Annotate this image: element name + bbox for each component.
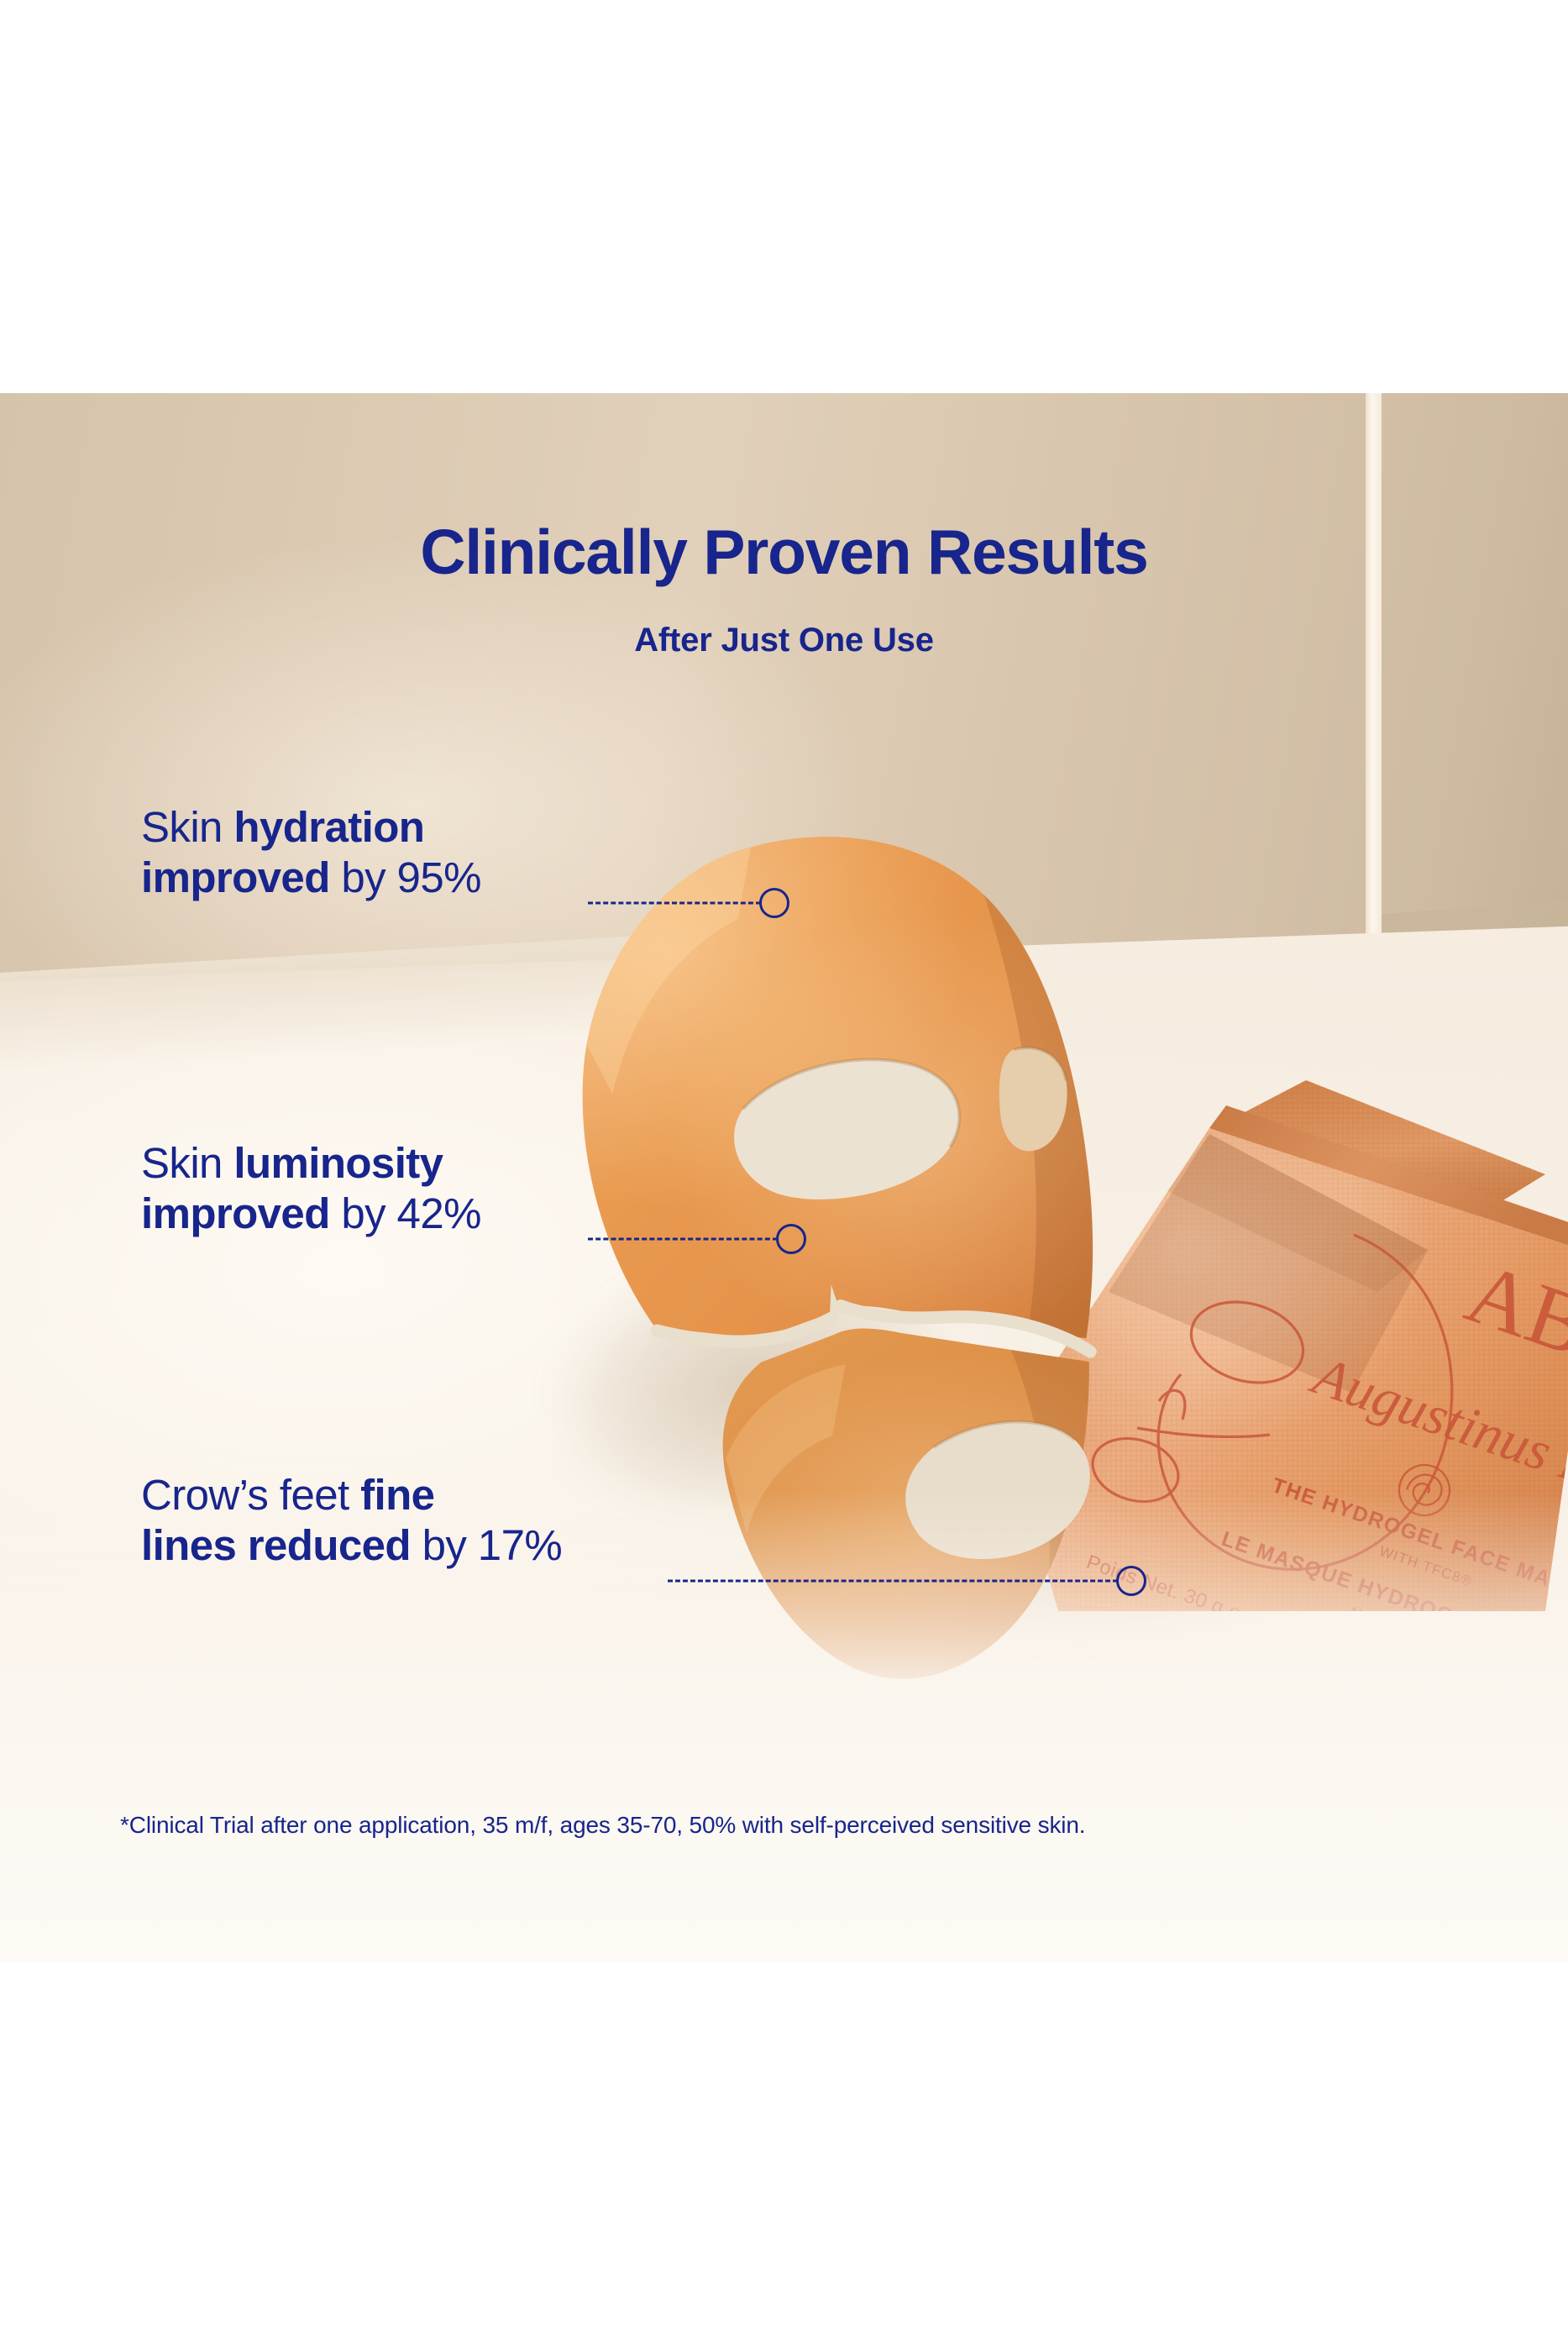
claim-hydration-l1-plain: Skin: [141, 803, 233, 851]
wall-seam: [1366, 393, 1382, 981]
claim-hydration-line1: Skin hydration: [141, 802, 481, 853]
claim-crows-feet-line2: lines reduced by 17%: [141, 1520, 562, 1571]
claim-crows-feet-l2-bold: lines reduced: [141, 1521, 411, 1569]
claim-crows-feet-l1-bold: fine: [360, 1471, 434, 1519]
claim-hydration-line2: improved by 95%: [141, 853, 481, 903]
leader-line-hydration: [588, 886, 789, 920]
claim-luminosity-line2: improved by 42%: [141, 1189, 481, 1239]
claim-hydration-l2-plain: by 95%: [330, 853, 481, 901]
page-subtitle: After Just One Use: [0, 623, 1568, 657]
clinical-trial-footnote: *Clinical Trial after one application, 3…: [120, 1812, 1085, 1839]
leader-line-crows-feet: [668, 1564, 1146, 1598]
claim-hydration-l1-bold: hydration: [233, 803, 424, 851]
leader-endpoint-circle: [759, 888, 789, 918]
claim-crows-feet-l2-plain: by 17%: [411, 1521, 562, 1569]
claim-crows-feet-line1: Crow’s feet fine: [141, 1470, 562, 1520]
claim-luminosity: Skin luminosity improved by 42%: [141, 1138, 481, 1238]
leader-endpoint-circle: [776, 1224, 806, 1254]
claim-hydration: Skin hydration improved by 95%: [141, 802, 481, 902]
claim-luminosity-line1: Skin luminosity: [141, 1138, 481, 1189]
claim-luminosity-l2-plain: by 42%: [330, 1189, 481, 1237]
leader-endpoint-circle: [1116, 1566, 1146, 1596]
marketing-image-canvas: AB Augustinus B THE HYDROGEL FACE MASK W…: [0, 0, 1568, 2352]
leader-dash: [588, 1238, 778, 1241]
leader-dash: [668, 1580, 1118, 1583]
leader-line-luminosity: [588, 1222, 806, 1256]
claim-luminosity-l1-bold: luminosity: [233, 1139, 443, 1187]
claim-crows-feet: Crow’s feet fine lines reduced by 17%: [141, 1470, 562, 1570]
page-title: Clinically Proven Results: [0, 521, 1568, 584]
right-pedestal-block: [1382, 393, 1568, 958]
leader-dash: [588, 902, 761, 905]
claim-hydration-l2-bold: improved: [141, 853, 330, 901]
claim-luminosity-l1-plain: Skin: [141, 1139, 233, 1187]
claim-luminosity-l2-bold: improved: [141, 1189, 330, 1237]
claim-crows-feet-l1-plain: Crow’s feet: [141, 1471, 360, 1519]
